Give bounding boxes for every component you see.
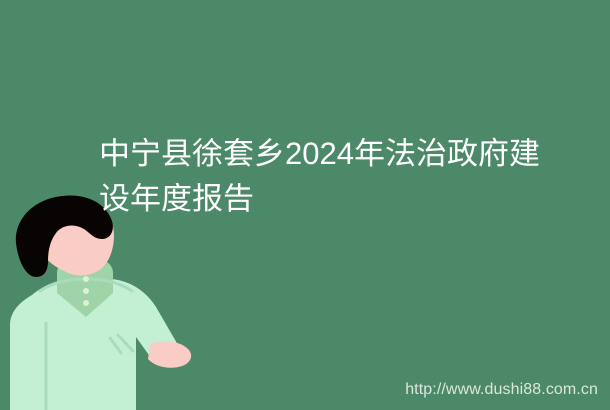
collar-shape [40,259,132,317]
hand-shape [148,341,191,367]
page-title: 中宁县徐套乡2024年法治政府建设年度报告 [99,131,559,221]
neck-shape [62,247,100,291]
person-illustration [0,195,215,410]
watermark-url: http://www.dushi88.com.cn [405,381,598,399]
article-cover: 中宁县徐套乡2024年法治政府建设年度报告 http://www.dushi88… [0,0,610,410]
shirt-shape [10,279,180,410]
